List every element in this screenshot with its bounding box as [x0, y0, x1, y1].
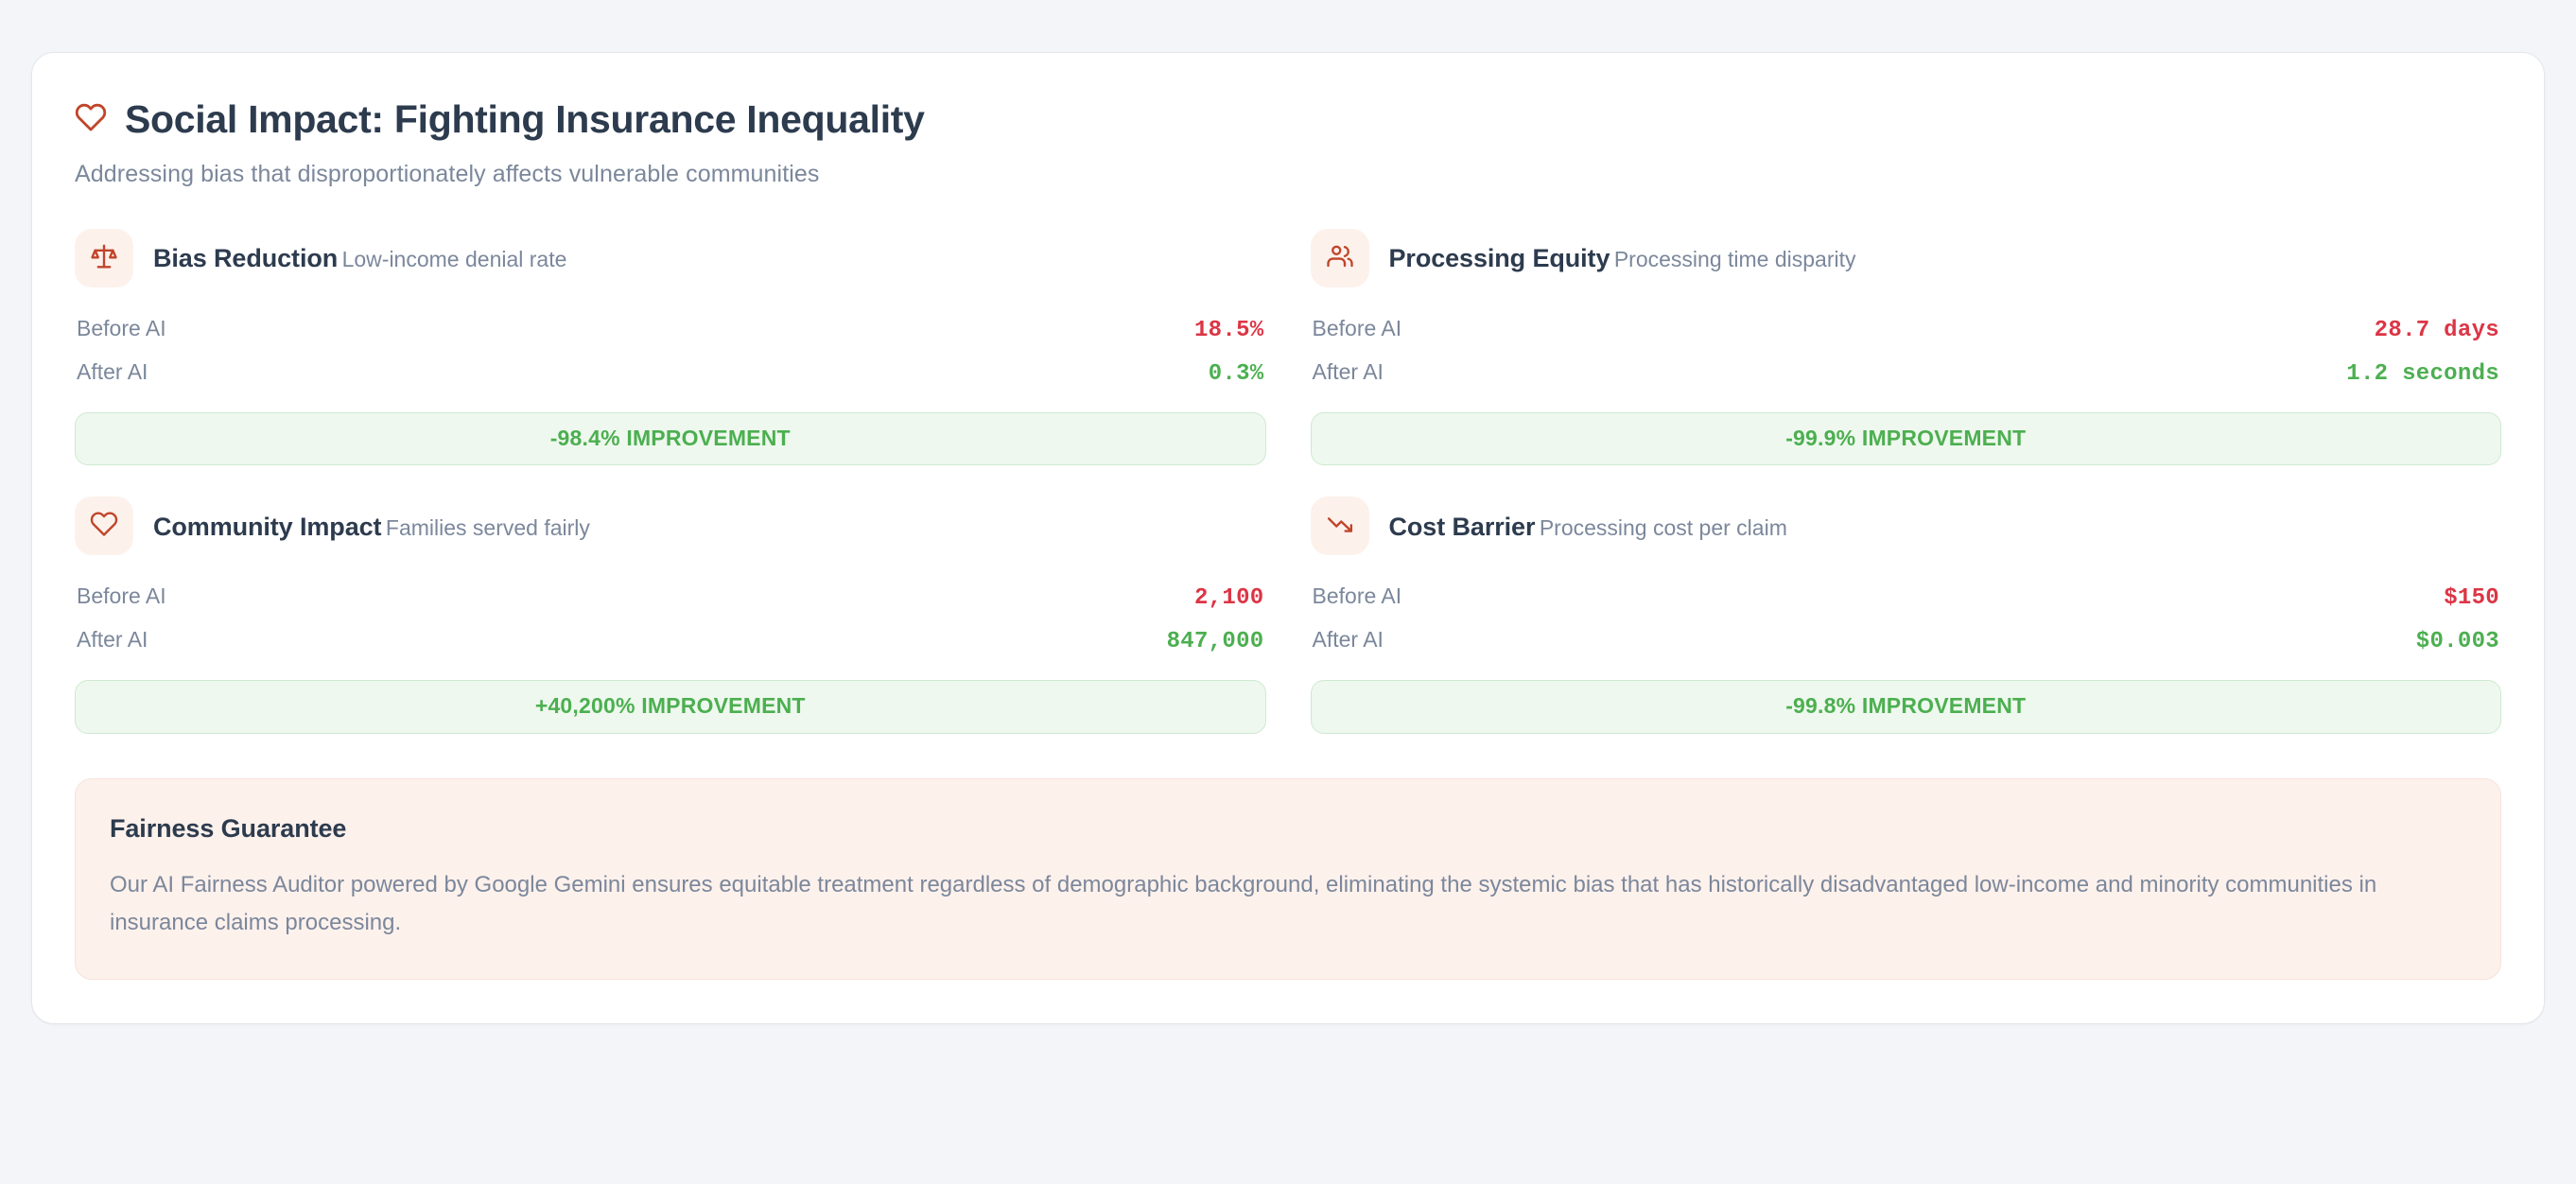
metric-icon-container	[75, 496, 133, 555]
social-impact-panel: Social Impact: Fighting Insurance Inequa…	[31, 52, 2545, 1024]
metric-grid: Bias Reduction Low-income denial rate Be…	[75, 229, 2501, 733]
metric-name: Processing Equity	[1389, 244, 1610, 272]
metric-title-group: Community Impact Families served fairly	[153, 511, 590, 542]
panel-header: Social Impact: Fighting Insurance Inequa…	[75, 98, 2501, 189]
page-root: Social Impact: Fighting Insurance Inequa…	[0, 0, 2576, 1184]
metric-value-rows: Before AI 2,100 After AI 847,000	[75, 577, 1266, 664]
metric-card-cost-barrier: Cost Barrier Processing cost per claim B…	[1311, 496, 2502, 733]
metric-description: Low-income denial rate	[342, 247, 567, 271]
metric-row-before: Before AI 2,100	[75, 577, 1266, 620]
metric-header: Bias Reduction Low-income denial rate	[75, 229, 1266, 287]
metric-value-rows: Before AI 28.7 days After AI 1.2 seconds	[1311, 309, 2502, 396]
metric-name: Community Impact	[153, 513, 381, 541]
metric-title-group: Bias Reduction Low-income denial rate	[153, 242, 566, 273]
metric-title-group: Cost Barrier Processing cost per claim	[1389, 511, 1787, 542]
metric-row-after: After AI 0.3%	[75, 353, 1266, 396]
metric-row-before: Before AI 18.5%	[75, 309, 1266, 353]
metric-name: Cost Barrier	[1389, 513, 1536, 541]
metric-header: Cost Barrier Processing cost per claim	[1311, 496, 2502, 555]
heart-icon	[90, 510, 118, 543]
after-value: 1.2 seconds	[2346, 361, 2499, 389]
metric-row-before: Before AI 28.7 days	[1311, 309, 2502, 353]
users-icon	[1326, 242, 1354, 275]
after-value: 847,000	[1167, 629, 1264, 656]
metric-value-rows: Before AI 18.5% After AI 0.3%	[75, 309, 1266, 396]
before-label: Before AI	[77, 316, 166, 342]
after-label: After AI	[1313, 627, 1384, 653]
after-label: After AI	[77, 627, 148, 653]
before-label: Before AI	[1313, 316, 1402, 342]
metric-description: Processing time disparity	[1614, 247, 1856, 271]
after-label: After AI	[1313, 359, 1384, 386]
before-value: 28.7 days	[2375, 318, 2499, 345]
trending-down-icon	[1326, 510, 1354, 543]
metric-icon-container	[1311, 229, 1369, 287]
before-label: Before AI	[1313, 583, 1402, 610]
metric-row-before: Before AI $150	[1311, 577, 2502, 620]
metric-name: Bias Reduction	[153, 244, 338, 272]
metric-description: Processing cost per claim	[1540, 515, 1787, 540]
metric-header: Community Impact Families served fairly	[75, 496, 1266, 555]
fairness-guarantee-box: Fairness Guarantee Our AI Fairness Audit…	[75, 778, 2501, 981]
after-value: $0.003	[2416, 629, 2499, 656]
before-label: Before AI	[77, 583, 166, 610]
metric-row-after: After AI 1.2 seconds	[1311, 353, 2502, 396]
metric-row-after: After AI 847,000	[75, 620, 1266, 664]
metric-value-rows: Before AI $150 After AI $0.003	[1311, 577, 2502, 664]
title-row: Social Impact: Fighting Insurance Inequa…	[75, 98, 2501, 142]
before-value: $150	[2444, 585, 2499, 613]
metric-card-bias-reduction: Bias Reduction Low-income denial rate Be…	[75, 229, 1266, 465]
metric-header: Processing Equity Processing time dispar…	[1311, 229, 2502, 287]
improvement-badge: -99.9% IMPROVEMENT	[1311, 412, 2502, 466]
scales-balance-icon	[90, 242, 118, 275]
fairness-guarantee-text: Our AI Fairness Auditor powered by Googl…	[110, 866, 2445, 941]
fairness-guarantee-title: Fairness Guarantee	[110, 813, 2466, 844]
after-label: After AI	[77, 359, 148, 386]
improvement-badge: -98.4% IMPROVEMENT	[75, 412, 1266, 466]
panel-subtitle: Addressing bias that disproportionately …	[75, 160, 2501, 189]
metric-card-community-impact: Community Impact Families served fairly …	[75, 496, 1266, 733]
after-value: 0.3%	[1209, 361, 1264, 389]
improvement-badge: +40,200% IMPROVEMENT	[75, 680, 1266, 734]
metric-icon-container	[75, 229, 133, 287]
metric-row-after: After AI $0.003	[1311, 620, 2502, 664]
improvement-badge: -99.8% IMPROVEMENT	[1311, 680, 2502, 734]
metric-description: Families served fairly	[386, 515, 590, 540]
metric-card-processing-equity: Processing Equity Processing time dispar…	[1311, 229, 2502, 465]
metric-title-group: Processing Equity Processing time dispar…	[1389, 242, 1856, 273]
page-title: Social Impact: Fighting Insurance Inequa…	[125, 98, 925, 142]
before-value: 2,100	[1194, 585, 1264, 613]
heart-icon	[75, 101, 107, 138]
before-value: 18.5%	[1194, 318, 1264, 345]
metric-icon-container	[1311, 496, 1369, 555]
